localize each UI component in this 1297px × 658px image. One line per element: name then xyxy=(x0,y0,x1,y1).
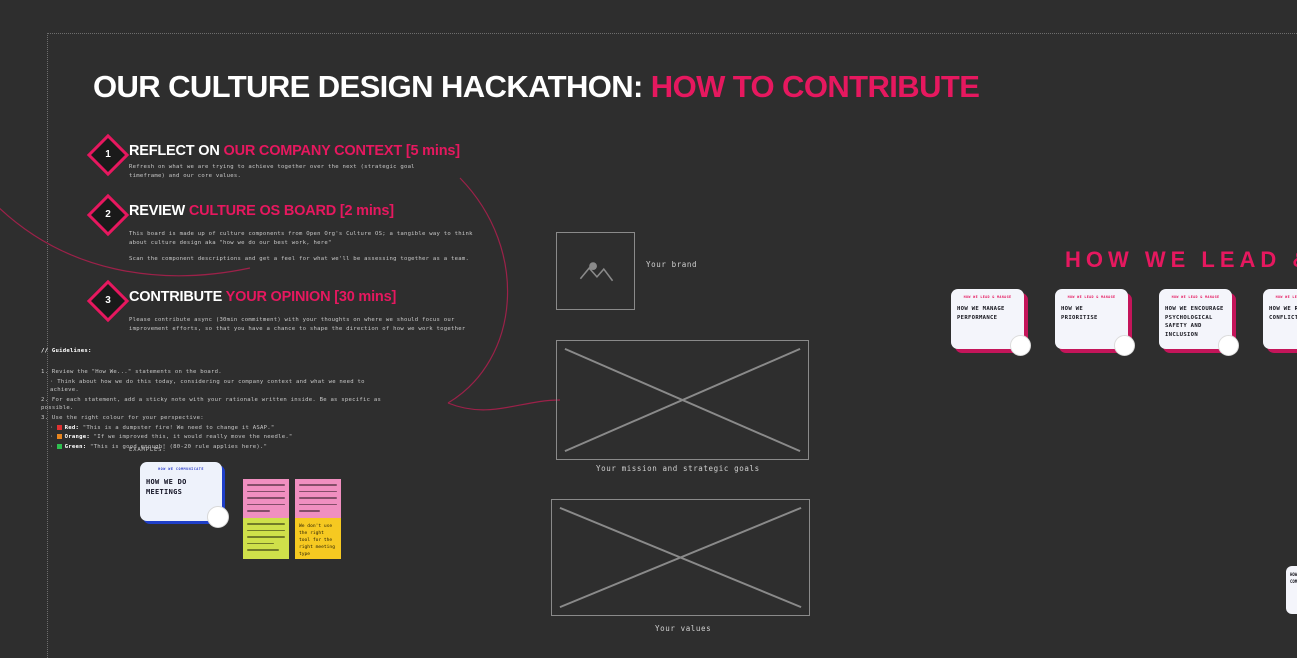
green-swatch-icon xyxy=(57,444,62,449)
whiteboard-canvas[interactable]: OUR CULTURE DESIGN HACKATHON: HOW TO CON… xyxy=(0,0,1297,658)
cross-placeholder-icon xyxy=(552,500,809,615)
dotted-frame-left xyxy=(47,33,48,658)
guideline-marker-3: 2. xyxy=(41,397,48,403)
dotted-frame-top xyxy=(47,33,1297,34)
component-card-header: HOW WE LEAD & MANAGE xyxy=(1061,295,1122,299)
sticky-line xyxy=(299,484,337,486)
colour-orange-name: Orange: xyxy=(65,434,90,440)
step-1-body: Refresh on what we are trying to achieve… xyxy=(129,163,429,188)
component-card-manage-performance[interactable]: HOW WE LEAD & MANAGE HOW WE MANAGE PERFO… xyxy=(951,289,1024,349)
sticky-note-pink-1[interactable] xyxy=(243,479,289,520)
component-card-title: HOW WE MANAGE PERFORMANCE xyxy=(957,305,1018,322)
sticky-line xyxy=(247,530,285,532)
step-1-badge: 1 xyxy=(87,134,129,176)
component-card-header: HOW WE LEAD & MANAGE xyxy=(1269,295,1297,299)
example-component-card[interactable]: HOW WE COMMUNICATE HOW WE DO MEETINGS xyxy=(140,462,225,524)
step-1-paragraph-1: Refresh on what we are trying to achieve… xyxy=(129,163,429,181)
sticky-line xyxy=(247,491,285,493)
values-caption: Your values xyxy=(655,624,711,633)
colour-red-text: "This is a dumpster fire! We need to cha… xyxy=(83,425,275,431)
component-card-resolve-conflict[interactable]: HOW WE LEAD & MANAGE HOW WE RESOLVE CONF… xyxy=(1263,289,1297,349)
component-card-prioritise[interactable]: HOW WE LEAD & MANAGE HOW WE PRIORITISE xyxy=(1055,289,1128,349)
sticky-note-orange-text: We don't use the right tool for the righ… xyxy=(299,523,337,558)
step-3-badge: 3 xyxy=(87,280,129,322)
step-2-heading: REVIEW CULTURE OS BOARD [2 mins] xyxy=(129,203,394,219)
example-card-title: HOW WE DO MEETINGS xyxy=(146,477,216,497)
sticky-line xyxy=(299,497,337,499)
colour-orange-text: "If we improved this, it would really mo… xyxy=(94,434,293,440)
step-1-number: 1 xyxy=(96,143,120,167)
component-vote-dot[interactable] xyxy=(1218,335,1239,356)
guideline-text-4: Use the right colour for your perspectiv… xyxy=(52,415,204,421)
sticky-line xyxy=(247,523,285,525)
guideline-item-4: 3. Use the right colour for your perspec… xyxy=(41,414,393,423)
sticky-line xyxy=(247,497,285,499)
sticky-note-pink-2[interactable] xyxy=(295,479,341,520)
guidelines-heading: // Guidelines: xyxy=(41,347,391,356)
image-placeholder-icon xyxy=(557,233,634,309)
sticky-note-orange[interactable]: We don't use the right tool for the righ… xyxy=(295,518,341,559)
component-card-title: HOW WE PRIORITISE xyxy=(1061,305,1122,322)
sticky-note-green[interactable] xyxy=(243,518,289,559)
sticky-line xyxy=(247,510,270,512)
brand-caption: Your brand xyxy=(646,260,697,269)
brand-image-placeholder[interactable] xyxy=(556,232,635,310)
step-2-paragraph-2: Scan the component descriptions and get … xyxy=(129,255,474,264)
step-3-heading-pink: YOUR OPINION [30 mins] xyxy=(226,289,396,305)
component-card-psychological-safety[interactable]: HOW WE LEAD & MANAGE HOW WE ENCOURAGE PS… xyxy=(1159,289,1232,349)
sticky-line xyxy=(247,549,279,551)
guideline-item-1: 1. Review the "How We..." statements on … xyxy=(41,368,393,377)
example-card-vote-dot[interactable] xyxy=(207,506,229,528)
mission-wireframe-box[interactable] xyxy=(556,340,809,460)
page-title-highlight: HOW TO CONTRIBUTE xyxy=(651,69,979,104)
page-title-main: OUR CULTURE DESIGN HACKATHON: xyxy=(93,69,643,104)
sticky-line xyxy=(247,543,274,545)
mission-caption: Your mission and strategic goals xyxy=(596,464,760,473)
sticky-line xyxy=(299,491,337,493)
guideline-marker-1: 1. xyxy=(41,369,48,375)
guideline-text-1: Review the "How We..." statements on the… xyxy=(52,369,222,375)
component-card-face[interactable]: HOW WE LEAD & MANAGE HOW WE RESOLVE CONF… xyxy=(1263,289,1297,349)
step-3-heading-white: CONTRIBUTE xyxy=(129,289,222,305)
sticky-line xyxy=(247,504,285,506)
guidelines-list: 1. Review the "How We..." statements on … xyxy=(41,368,393,452)
guideline-marker-2: · xyxy=(50,379,54,385)
component-card-header: HOW WE LEAD & MANAGE xyxy=(957,295,1018,299)
sticky-line xyxy=(247,536,285,538)
guideline-item-3: 2. For each statement, add a sticky note… xyxy=(41,396,393,413)
guideline-text-2: Think about how we do this today, consid… xyxy=(50,379,365,394)
step-2-heading-white: REVIEW xyxy=(129,203,185,219)
colour-option-red: · Red: "This is a dumpster fire! We need… xyxy=(41,424,393,433)
colour-green-name: Green: xyxy=(65,444,87,450)
step-3-paragraph-1: Please contribute async (30min commitmen… xyxy=(129,316,477,334)
step-3-number: 3 xyxy=(96,289,120,313)
corner-card-title: HOW WE COMMUNICATE xyxy=(1290,571,1297,585)
guidelines-heading-wrap: // Guidelines: xyxy=(41,347,391,357)
cross-placeholder-icon xyxy=(557,341,808,459)
sticky-line xyxy=(299,510,320,512)
component-card-header: HOW WE LEAD & MANAGE xyxy=(1165,295,1226,299)
step-1-heading: REFLECT ON OUR COMPANY CONTEXT [5 mins] xyxy=(129,143,460,159)
step-1-heading-white: REFLECT ON xyxy=(129,143,220,159)
step-2-number: 2 xyxy=(96,203,120,227)
section-title-lead-manage: HOW WE LEAD & MANAGE xyxy=(1065,247,1297,273)
colour-red-name: Red: xyxy=(65,425,79,431)
step-2-paragraph-1: This board is made up of culture compone… xyxy=(129,230,474,248)
step-3-body: Please contribute async (30min commitmen… xyxy=(129,316,477,341)
orange-swatch-icon xyxy=(57,434,62,439)
colour-option-green: · Green: "This is good enough! (80-20 ru… xyxy=(41,443,393,452)
component-card-title: HOW WE ENCOURAGE PSYCHOLOGICAL SAFETY AN… xyxy=(1165,305,1226,339)
sticky-line xyxy=(299,504,337,506)
step-3-heading: CONTRIBUTE YOUR OPINION [30 mins] xyxy=(129,289,396,305)
page-title: OUR CULTURE DESIGN HACKATHON: HOW TO CON… xyxy=(93,69,979,105)
colour-option-orange: · Orange: "If we improved this, it would… xyxy=(41,433,393,442)
example-card-header: HOW WE COMMUNICATE xyxy=(146,467,216,471)
examples-label: EXAMPLES: xyxy=(129,447,167,453)
component-vote-dot[interactable] xyxy=(1114,335,1135,356)
step-2-heading-pink: CULTURE OS BOARD [2 mins] xyxy=(189,203,394,219)
component-vote-dot[interactable] xyxy=(1010,335,1031,356)
values-wireframe-box[interactable] xyxy=(551,499,810,616)
step-2-body: This board is made up of culture compone… xyxy=(129,230,474,271)
component-card-title: HOW WE RESOLVE CONFLICT xyxy=(1269,305,1297,322)
guideline-marker-4: 3. xyxy=(41,415,48,421)
guideline-item-2: · Think about how we do this today, cons… xyxy=(41,378,393,395)
sticky-line xyxy=(247,484,285,486)
corner-component-card[interactable]: HOW WE COMMUNICATE xyxy=(1286,566,1297,614)
colour-green-text: "This is good enough! (80-20 rule applie… xyxy=(90,444,267,450)
step-2-badge: 2 xyxy=(87,194,129,236)
step-1-heading-pink: OUR COMPANY CONTEXT [5 mins] xyxy=(223,143,459,159)
guideline-text-3: For each statement, add a sticky note wi… xyxy=(41,397,381,412)
red-swatch-icon xyxy=(57,425,62,430)
